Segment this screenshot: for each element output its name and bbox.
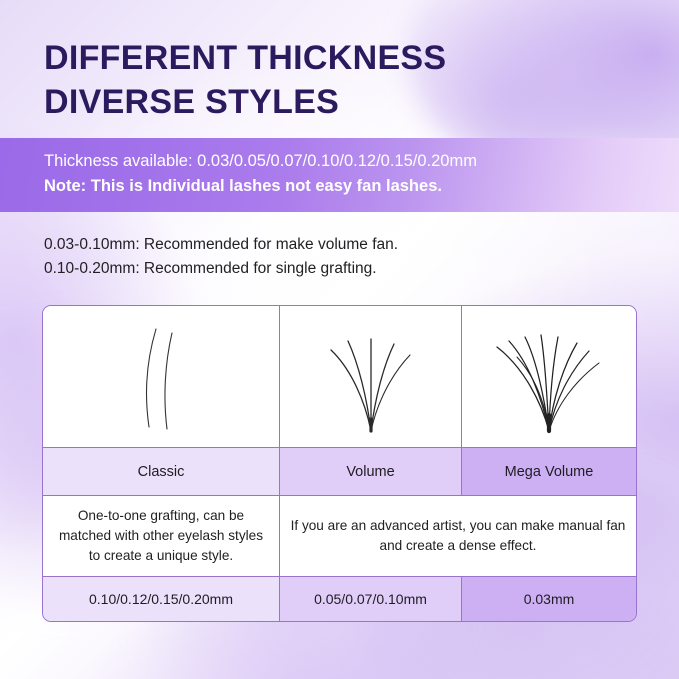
thickness-banner: Thickness available: 0.03/0.05/0.07/0.10…: [0, 138, 679, 212]
table-row-illustrations: [43, 306, 636, 448]
label-volume: Volume: [280, 448, 462, 495]
label-classic: Classic: [43, 448, 280, 495]
table-row-thickness: 0.10/0.12/0.15/0.20mm 0.05/0.07/0.10mm 0…: [43, 577, 636, 621]
thickness-mega-volume: 0.03mm: [462, 577, 636, 621]
cell-classic-illustration: [43, 306, 280, 447]
recommendation-line-1: 0.03-0.10mm: Recommended for make volume…: [44, 233, 644, 257]
table-row-descriptions: One-to-one grafting, can be matched with…: [43, 496, 636, 577]
cell-mega-volume-illustration: [462, 306, 636, 447]
table-row-style-labels: Classic Volume Mega Volume: [43, 448, 636, 496]
recommendation-line-2: 0.10-0.20mm: Recommended for single graf…: [44, 257, 644, 281]
title-line-2: DIVERSE STYLES: [44, 80, 644, 124]
label-mega-volume: Mega Volume: [462, 448, 636, 495]
banner-note-text: Note: This is Individual lashes not easy…: [44, 174, 679, 199]
lash-comparison-table: Classic Volume Mega Volume One-to-one gr…: [42, 305, 637, 622]
thickness-available-text: Thickness available: 0.03/0.05/0.07/0.10…: [44, 149, 679, 174]
thickness-volume: 0.05/0.07/0.10mm: [280, 577, 462, 621]
description-classic: One-to-one grafting, can be matched with…: [43, 496, 280, 576]
product-infographic-page: DIFFERENT THICKNESS DIVERSE STYLES Thick…: [0, 0, 679, 679]
cell-volume-illustration: [280, 306, 462, 447]
mega-volume-lash-fan-illustration-icon: [487, 317, 611, 437]
description-volume-and-mega-volume: If you are an advanced artist, you can m…: [280, 496, 636, 576]
recommendation-block: 0.03-0.10mm: Recommended for make volume…: [44, 233, 644, 281]
title-line-1: DIFFERENT THICKNESS: [44, 36, 644, 80]
page-title: DIFFERENT THICKNESS DIVERSE STYLES: [44, 36, 644, 124]
banner-content: Thickness available: 0.03/0.05/0.07/0.10…: [0, 138, 679, 199]
classic-lash-illustration-icon: [116, 317, 206, 437]
volume-lash-fan-illustration-icon: [315, 317, 427, 437]
thickness-classic: 0.10/0.12/0.15/0.20mm: [43, 577, 280, 621]
